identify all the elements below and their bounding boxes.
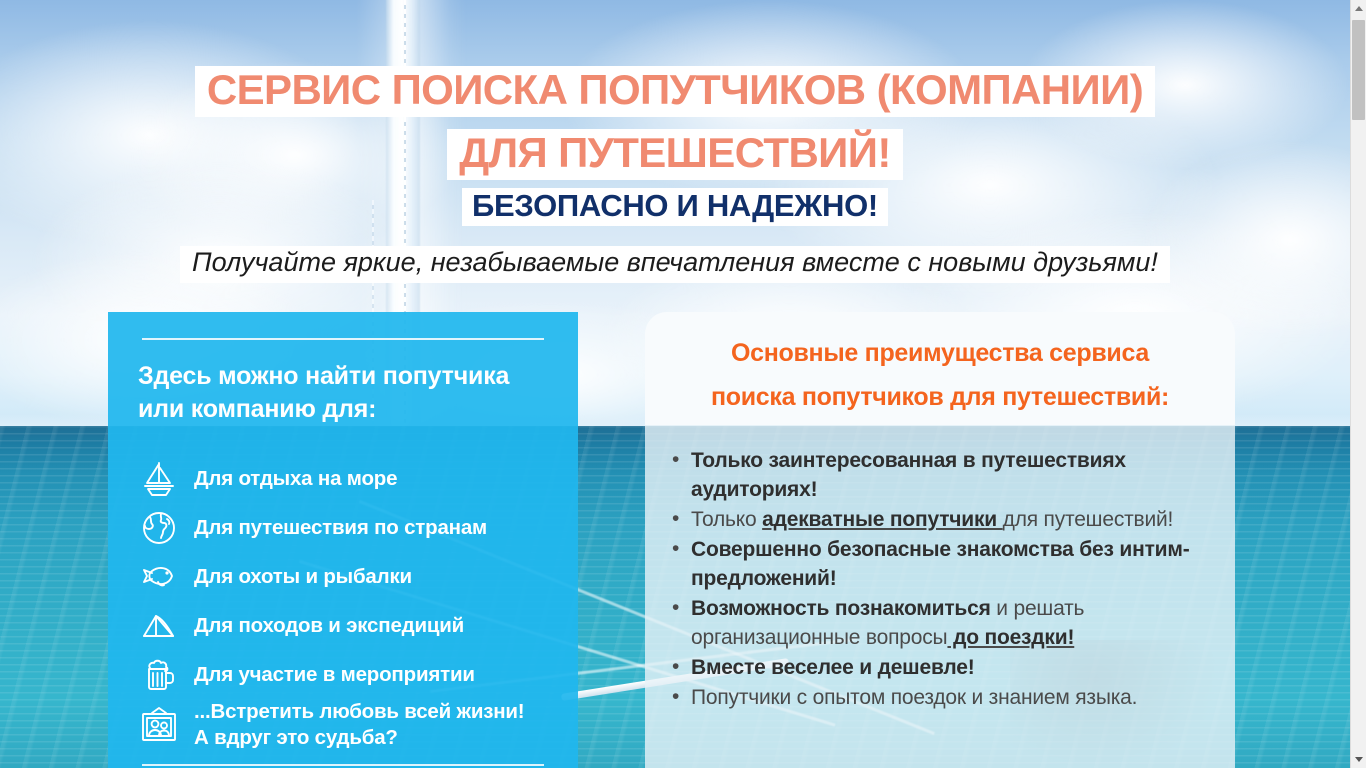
tent-icon xyxy=(138,605,180,647)
advantage-text-run: Попутчики с опытом поездок и знанием язы… xyxy=(691,686,1137,709)
advantage-text-run: Совершенно безопасные знакомства без инт… xyxy=(691,538,1190,590)
left-panel-heading: Здесь можно найти попутчика или компанию… xyxy=(134,360,552,426)
photo-frame-people-icon xyxy=(138,704,180,746)
advantage-text-run: до поездки! xyxy=(947,626,1074,649)
purpose-item[interactable]: ...Встретить любовь всей жизни!А вдруг э… xyxy=(134,699,552,750)
purpose-item-label: Для путешествия по странам xyxy=(194,515,487,541)
advantage-text-run: Только xyxy=(691,508,762,531)
advantage-item: Попутчики с опытом поездок и знанием язы… xyxy=(669,684,1215,713)
hero-title-line2-text: ДЛЯ ПУТЕШЕСТВИЙ! xyxy=(447,129,902,180)
fish-icon xyxy=(138,556,180,598)
globe-icon xyxy=(138,507,180,549)
advantage-text-bold: Возможность познакомиться xyxy=(691,597,991,620)
panel-divider-top xyxy=(142,338,544,340)
advantages-list: Только заинтересованная в путешествиях а… xyxy=(669,447,1215,713)
advantage-item: Только адекватные попутчики для путешест… xyxy=(669,506,1215,535)
purpose-item-label-line2: А вдруг это судьба? xyxy=(194,725,524,751)
hero-subtitle: БЕЗОПАСНО И НАДЕЖНО! xyxy=(0,188,1350,226)
chevron-up-icon xyxy=(1355,6,1363,11)
advantage-text-run: Только заинтересованная в путешествиях а… xyxy=(691,449,1126,501)
advantage-text-bold: Только заинтересованная в путешествиях а… xyxy=(691,449,1126,501)
purpose-item-label: Для отдыха на море xyxy=(194,466,397,492)
advantages-heading-line2: поиска попутчиков для путешествий: xyxy=(667,376,1213,420)
advantage-text-underline: адекватные попутчики xyxy=(762,508,1003,531)
purpose-item-label: Для участие в мероприятии xyxy=(194,662,475,688)
hero-tagline-text: Получайте яркие, незабываемые впечатлени… xyxy=(180,246,1170,283)
purpose-item-label-line1: ...Встретить любовь всей жизни! xyxy=(194,699,524,725)
advantage-text-bold: адекватные попутчики xyxy=(762,508,1003,531)
purpose-item[interactable]: Для участие в мероприятии xyxy=(134,650,552,699)
hero-title-line1: СЕРВИС ПОИСКА ПОПУТЧИКОВ (КОМПАНИИ) xyxy=(0,66,1350,117)
advantages-header: Основные преимущества сервиса поиска поп… xyxy=(645,312,1235,425)
find-companion-panel: Здесь можно найти попутчика или компанию… xyxy=(108,312,578,768)
hero-title-line2: ДЛЯ ПУТЕШЕСТВИЙ! xyxy=(0,129,1350,180)
advantage-item: Возможность познакомиться и решать орган… xyxy=(669,595,1215,653)
chevron-down-icon xyxy=(1355,757,1363,762)
page-scrollbar[interactable] xyxy=(1350,0,1366,768)
purpose-list: Для отдыха на мореДля путешествия по стр… xyxy=(134,454,552,750)
hero-title-line1-text: СЕРВИС ПОИСКА ПОПУТЧИКОВ (КОМПАНИИ) xyxy=(195,66,1155,117)
purpose-item-label: ...Встретить любовь всей жизни!А вдруг э… xyxy=(194,699,524,750)
purpose-item[interactable]: Для охоты и рыбалки xyxy=(134,552,552,601)
advantage-text-bold: Совершенно безопасные знакомства без инт… xyxy=(691,538,1190,590)
advantage-text-run: Возможность познакомиться xyxy=(691,597,991,620)
advantage-item: Только заинтересованная в путешествиях а… xyxy=(669,447,1215,505)
advantages-heading-line1: Основные преимущества сервиса xyxy=(667,332,1213,376)
advantage-text-run: Вместе веселее и дешевле! xyxy=(691,656,975,679)
scroll-down-arrow[interactable] xyxy=(1351,751,1366,768)
purpose-item[interactable]: Для путешествия по странам xyxy=(134,503,552,552)
panel-divider-bottom xyxy=(142,764,544,766)
hero-subtitle-text: БЕЗОПАСНО И НАДЕЖНО! xyxy=(462,188,888,226)
advantage-text-run: адекватные попутчики xyxy=(762,508,1003,531)
advantages-panel: Основные преимущества сервиса поиска поп… xyxy=(645,312,1235,768)
advantage-text-bold: до поездки! xyxy=(947,626,1074,649)
scroll-up-arrow[interactable] xyxy=(1351,0,1366,17)
purpose-item[interactable]: Для походов и экспедиций xyxy=(134,601,552,650)
purpose-item-label: Для походов и экспедиций xyxy=(194,613,464,639)
advantage-item: Совершенно безопасные знакомства без инт… xyxy=(669,536,1215,594)
advantage-text-underline: до поездки! xyxy=(947,626,1074,649)
advantage-item: Вместе веселее и дешевле! xyxy=(669,654,1215,683)
advantages-body: Только заинтересованная в путешествиях а… xyxy=(645,425,1235,768)
sailboat-icon xyxy=(138,458,180,500)
purpose-item-label: Для охоты и рыбалки xyxy=(194,564,412,590)
beer-mug-icon xyxy=(138,654,180,696)
purpose-item[interactable]: Для отдыха на море xyxy=(134,454,552,503)
advantage-text-bold: Вместе веселее и дешевле! xyxy=(691,656,975,679)
scrollbar-thumb[interactable] xyxy=(1352,20,1365,120)
hero-tagline: Получайте яркие, незабываемые впечатлени… xyxy=(0,246,1350,283)
advantage-text-run: для путешествий! xyxy=(1003,508,1174,531)
